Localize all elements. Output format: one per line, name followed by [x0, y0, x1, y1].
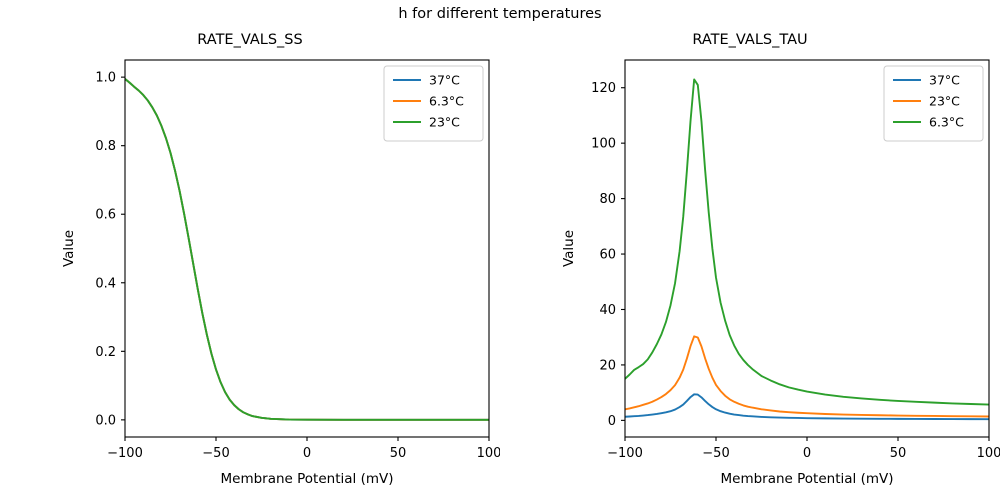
rate-vals-tau-legend-label-1: 23°C [929, 94, 960, 109]
rate-vals-ss-ytick-label: 0.6 [95, 208, 116, 223]
rate-vals-tau-xtick-label: 50 [890, 446, 907, 461]
rate-vals-tau-ytick-label: 100 [591, 137, 616, 152]
rate-vals-tau-ytick-label: 60 [599, 248, 616, 263]
matplotlib-figure: h for different temperatures RATE_VALS_S… [0, 0, 1000, 500]
subplot-rate-vals-ss: RATE_VALS_SS −100−500501000.00.20.40.60.… [0, 0, 500, 500]
rate-vals-tau-xlabel: Membrane Potential (mV) [720, 471, 893, 487]
rate-vals-tau-ytick-label: 80 [599, 192, 616, 207]
rate-vals-tau-xtick-label: 100 [977, 446, 1000, 461]
rate-vals-ss-ytick-label: 1.0 [95, 71, 116, 86]
rate-vals-tau-ytick-label: 0 [608, 414, 616, 429]
rate-vals-ss-xtick-label: −50 [202, 446, 229, 461]
rate-vals-ss-ylabel: Value [61, 230, 77, 267]
rate-vals-tau-legend-label-0: 37°C [929, 73, 960, 88]
rate-vals-ss-xtick-label: 0 [303, 446, 311, 461]
rate-vals-ss-ytick-label: 0.8 [95, 139, 116, 154]
rate-vals-tau-ytick-label: 120 [591, 81, 616, 96]
rate-vals-ss-ytick-label: 0.4 [95, 276, 116, 291]
rate-vals-ss-xtick-label: 50 [390, 446, 407, 461]
rate-vals-tau-xtick-label: 0 [803, 446, 811, 461]
rate-vals-ss-ytick-label: 0.0 [95, 413, 116, 428]
rate-vals-ss-legend-label-1: 6.3°C [429, 94, 464, 109]
rate-vals-tau-xtick-label: −100 [607, 446, 643, 461]
rate-vals-tau-ytick-label: 20 [599, 358, 616, 373]
rate-vals-ss-ytick-label: 0.2 [95, 345, 116, 360]
rate-vals-ss-xlabel: Membrane Potential (mV) [220, 471, 393, 487]
rate-vals-ss-legend[interactable]: 37°C6.3°C23°C [384, 66, 483, 141]
plot-canvas-rate-vals-ss: −100−500501000.00.20.40.60.81.0Membrane … [0, 0, 500, 500]
rate-vals-ss-xtick-label: −100 [107, 446, 143, 461]
rate-vals-ss-legend-label-0: 37°C [429, 73, 460, 88]
subplot-rate-vals-tau: RATE_VALS_TAU −100−500501000204060801001… [500, 0, 1000, 500]
plot-canvas-rate-vals-tau: −100−50050100020406080100120Membrane Pot… [500, 0, 1000, 500]
rate-vals-tau-line-1 [625, 336, 989, 416]
rate-vals-ss-xtick-label: 100 [477, 446, 500, 461]
rate-vals-tau-legend[interactable]: 37°C23°C6.3°C [884, 66, 983, 141]
rate-vals-ss-legend-label-2: 23°C [429, 115, 460, 130]
rate-vals-tau-legend-label-2: 6.3°C [929, 115, 964, 130]
rate-vals-tau-ylabel: Value [561, 230, 577, 267]
rate-vals-tau-ytick-label: 40 [599, 303, 616, 318]
rate-vals-tau-xtick-label: −50 [702, 446, 729, 461]
